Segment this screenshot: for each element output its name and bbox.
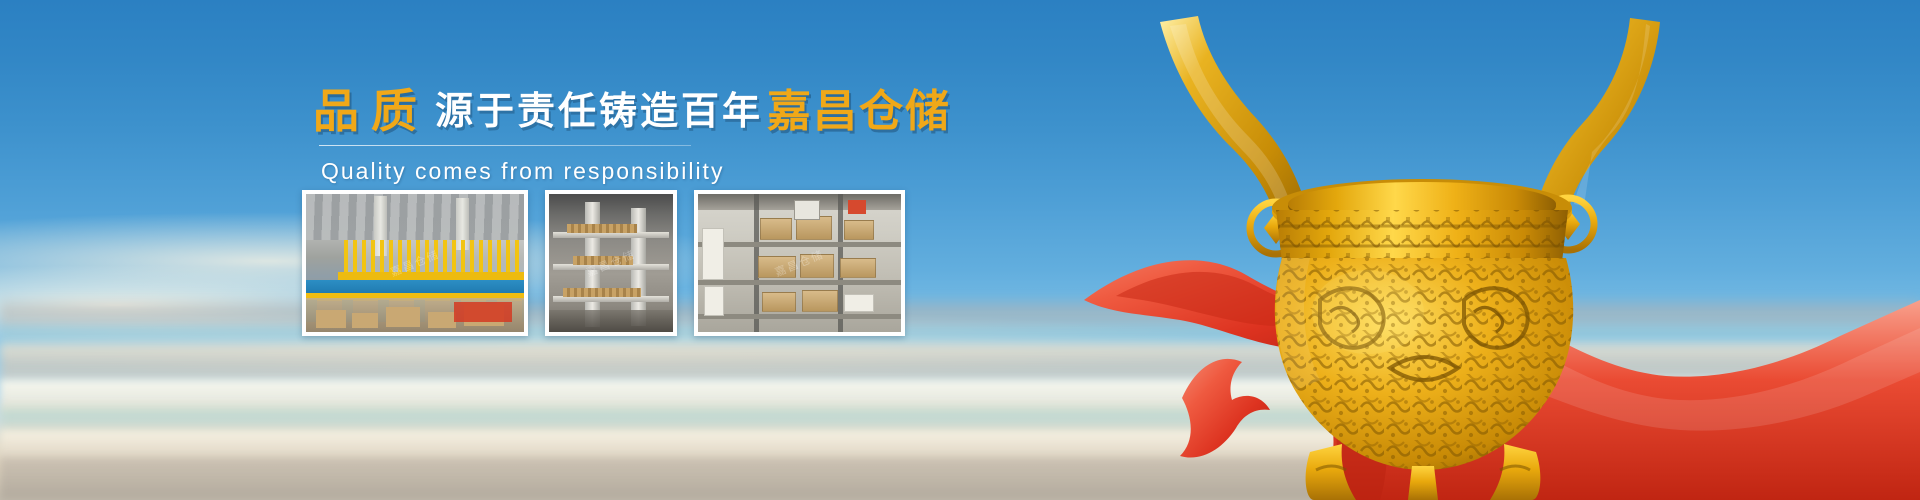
headline-middle: 源于责任铸造百年	[429, 93, 767, 134]
headline-brand: 嘉昌仓储	[767, 90, 951, 134]
photo-row: 嘉昌仓储 嘉昌仓储	[302, 190, 905, 336]
headline-divider	[319, 145, 691, 146]
subtitle: Quality comes from responsibility	[321, 158, 913, 185]
headline-block: 品质 源于责任铸造百年 嘉昌仓储 Quality comes from resp…	[313, 88, 913, 185]
red-silk-ribbon-furl	[1180, 359, 1270, 458]
headline-lead: 品质	[313, 88, 429, 134]
headline: 品质 源于责任铸造百年 嘉昌仓储	[313, 88, 913, 134]
cantilever-racking-photo[interactable]: 嘉昌仓储	[545, 190, 677, 336]
carton-shelving-photo[interactable]: 嘉昌仓储	[694, 190, 905, 336]
ding-artwork	[1020, 0, 1920, 500]
mezzanine-platform-photo[interactable]: 嘉昌仓储	[302, 190, 528, 336]
ding-right-handle	[1536, 18, 1660, 218]
ding-leg-center	[1408, 466, 1438, 500]
promotional-banner: 品质 源于责任铸造百年 嘉昌仓储 Quality comes from resp…	[0, 0, 1920, 500]
